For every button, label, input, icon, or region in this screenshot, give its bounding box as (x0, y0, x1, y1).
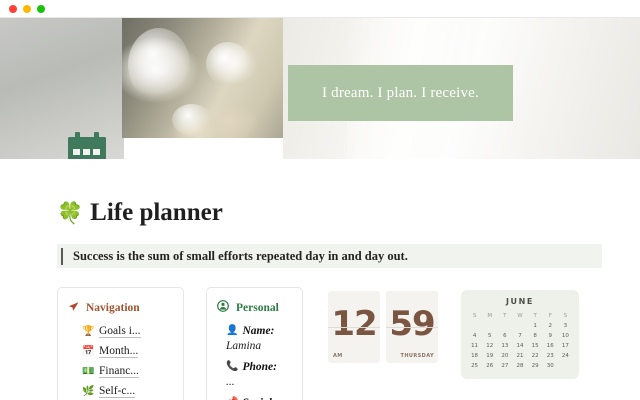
personal-card-body: 👤 Name: Lamina 📞 Phone: ... 📌 Social (217, 325, 292, 400)
callout-quote: Success is the sum of small efforts repe… (57, 244, 602, 268)
calendar-day[interactable]: 7 (512, 331, 527, 341)
calendar-day[interactable]: 16 (543, 341, 558, 351)
calendar-day[interactable]: 28 (512, 361, 527, 371)
nav-item-label: Self-c... (99, 385, 135, 398)
personal-card: Personal 👤 Name: Lamina 📞 Phone: ... 📌 (206, 287, 303, 400)
calendar-day[interactable]: 30 (543, 361, 558, 371)
calendar-day[interactable]: 18 (467, 351, 482, 361)
clock-weekday: THURSDAY (401, 353, 434, 359)
calendar-weekday: T (497, 311, 512, 321)
nav-item-label: Month... (99, 345, 138, 358)
calendar-week-row: 1 2 3 (467, 321, 573, 331)
personal-field-value: Lamina (226, 340, 292, 352)
personal-card-header: Personal (217, 299, 292, 317)
nav-item-goals[interactable]: 🏆 Goals i... (82, 325, 173, 338)
calendar-weekday: T (528, 311, 543, 321)
calendar-day[interactable]: 13 (497, 341, 512, 351)
calendar-day[interactable]: 23 (543, 351, 558, 361)
calendar-day[interactable]: 12 (482, 341, 497, 351)
personal-field-key: Name: (242, 325, 274, 337)
nav-item-monthly[interactable]: 📅 Month... (82, 345, 173, 358)
leaf-icon: 🌿 (82, 387, 94, 397)
calendar-weekday: W (512, 311, 527, 321)
navigation-card-header: Navigation (68, 299, 173, 317)
calendar-day[interactable] (467, 321, 482, 331)
calendar-day[interactable]: 20 (497, 351, 512, 361)
calendar-day[interactable]: 6 (497, 331, 512, 341)
navigation-list: 🏆 Goals i... 📅 Month... 💵 Financ... 🌿 Se… (68, 325, 173, 400)
calendar-day[interactable]: 5 (482, 331, 497, 341)
calendar-day[interactable]: 24 (558, 351, 573, 361)
calendar-weekday: S (467, 311, 482, 321)
calendar-day[interactable] (497, 321, 512, 331)
calendar-day[interactable] (512, 321, 527, 331)
calendar-day[interactable]: 19 (482, 351, 497, 361)
calendar-day[interactable]: 17 (558, 341, 573, 351)
calendar-week-row: 4 5 6 7 8 9 10 (467, 331, 573, 341)
calendar-day[interactable] (558, 361, 573, 371)
personal-field-value: ... (226, 376, 292, 388)
calendar-day[interactable]: 26 (482, 361, 497, 371)
calendar-icon: 📅 (82, 347, 94, 357)
app-window: I dream. I plan. I receive. 🍀 Life plann… (0, 0, 640, 400)
calendar-day[interactable]: 21 (512, 351, 527, 361)
widget-row: Navigation 🏆 Goals i... 📅 Month... 💵 Fin… (57, 287, 640, 400)
nav-item-label: Financ... (99, 365, 139, 378)
calendar-day[interactable]: 1 (528, 321, 543, 331)
callout-accent-bar (61, 248, 63, 265)
window-titlebar (0, 0, 640, 18)
calendar-day[interactable]: 25 (467, 361, 482, 371)
minimize-button[interactable] (23, 5, 31, 13)
clock-hours-panel: 12 AM (328, 291, 380, 363)
calendar-day[interactable]: 10 (558, 331, 573, 341)
calendar-grid: S M T W T F S (467, 311, 573, 371)
calendar-day[interactable]: 2 (543, 321, 558, 331)
hero-photo (122, 18, 284, 138)
money-icon: 💵 (82, 367, 94, 377)
person-circle-icon (217, 299, 229, 317)
calendar-weekday: M (482, 311, 497, 321)
calendar-day[interactable]: 27 (497, 361, 512, 371)
hero-quote-text: I dream. I plan. I receive. (322, 85, 479, 102)
calendar-day[interactable]: 8 (528, 331, 543, 341)
calendar-day[interactable]: 15 (528, 341, 543, 351)
calendar-week-row: 11 12 13 14 15 16 17 (467, 341, 573, 351)
phone-icon: 📞 (226, 362, 238, 372)
trophy-icon: 🏆 (82, 327, 94, 337)
clock-meridiem: AM (333, 353, 343, 359)
personal-field-name: 👤 Name: (226, 325, 292, 337)
page-content: 🍀 Life planner Success is the sum of sma… (0, 199, 640, 400)
calendar-icon (66, 132, 108, 159)
calendar-month-label: JUNE (467, 297, 573, 306)
navigation-card: Navigation 🏆 Goals i... 📅 Month... 💵 Fin… (57, 287, 184, 400)
calendar-day[interactable]: 9 (543, 331, 558, 341)
calendar-day[interactable]: 14 (512, 341, 527, 351)
flip-clock-widget: 12 AM 59 THURSDAY (328, 291, 438, 363)
person-icon: 👤 (226, 326, 238, 336)
calendar-week-row: 18 19 20 21 22 23 24 (467, 351, 573, 361)
calendar-day[interactable]: 4 (467, 331, 482, 341)
nav-item-label: Goals i... (99, 325, 141, 338)
clock-minutes: 59 (389, 307, 434, 341)
nav-item-finance[interactable]: 💵 Financ... (82, 365, 173, 378)
hero-banner: I dream. I plan. I receive. (0, 18, 640, 159)
calendar-weekday: F (543, 311, 558, 321)
close-button[interactable] (9, 5, 17, 13)
navigation-card-title: Navigation (86, 302, 140, 314)
calendar-day[interactable] (482, 321, 497, 331)
calendar-day[interactable]: 11 (467, 341, 482, 351)
arrow-cursor-icon (68, 299, 79, 317)
personal-field-key: Phone: (242, 361, 277, 373)
personal-card-title: Personal (236, 302, 279, 314)
calendar-weekday: S (558, 311, 573, 321)
hero-quote-banner: I dream. I plan. I receive. (288, 65, 513, 121)
nav-item-selfcare[interactable]: 🌿 Self-c... (82, 385, 173, 398)
calendar-weekday-row: S M T W T F S (467, 311, 573, 321)
clover-icon: 🍀 (57, 203, 83, 224)
clock-hours: 12 (331, 307, 376, 341)
calendar-week-row: 25 26 27 28 29 30 (467, 361, 573, 371)
calendar-day[interactable]: 29 (528, 361, 543, 371)
page-title-text: Life planner (90, 199, 223, 227)
page-title: 🍀 Life planner (57, 199, 640, 227)
mini-calendar-widget: JUNE S M T W T F S (461, 290, 579, 379)
personal-field-phone: 📞 Phone: (226, 361, 292, 373)
calendar-day[interactable]: 22 (528, 351, 543, 361)
clock-minutes-panel: 59 THURSDAY (386, 291, 438, 363)
calendar-day[interactable]: 3 (558, 321, 573, 331)
maximize-button[interactable] (37, 5, 45, 13)
callout-text: Success is the sum of small efforts repe… (73, 249, 408, 264)
